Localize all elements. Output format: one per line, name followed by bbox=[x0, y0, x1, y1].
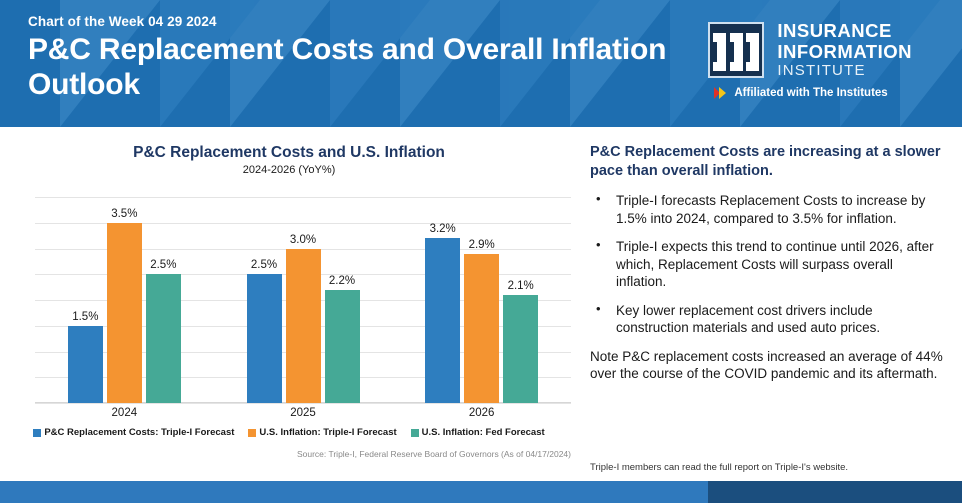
bar[interactable]: 1.5% bbox=[68, 326, 103, 403]
insight-bullet: Triple-I expects this trend to continue … bbox=[590, 238, 946, 291]
chart-title: P&C Replacement Costs and U.S. Inflation bbox=[0, 144, 578, 162]
bar-group: 3.2%2.9%2.1% bbox=[392, 197, 571, 403]
bar-group: 2.5%3.0%2.2% bbox=[214, 197, 393, 403]
bar-chart-plot: 1.5%3.5%2.5%2.5%3.0%2.2%3.2%2.9%2.1% bbox=[35, 197, 571, 403]
bar[interactable]: 3.0% bbox=[286, 249, 321, 404]
bar-value-label: 3.2% bbox=[430, 223, 456, 235]
chart-panel: P&C Replacement Costs and U.S. Inflation… bbox=[0, 127, 578, 480]
brand-wordmark: INSURANCE INFORMATION INSTITUTE bbox=[777, 22, 912, 78]
x-axis-tick-label: 2026 bbox=[392, 407, 571, 419]
bar-slot: 2.5% bbox=[247, 197, 282, 403]
triple-i-pillars-icon bbox=[708, 22, 764, 78]
brand-line-1: INSURANCE bbox=[777, 22, 912, 41]
legend-label: U.S. Inflation: Fed Forecast bbox=[422, 427, 545, 438]
brand-line-2: INFORMATION bbox=[777, 43, 912, 62]
bar-slot: 3.5% bbox=[107, 197, 142, 403]
bar-value-label: 1.5% bbox=[72, 311, 98, 323]
bar-slot: 2.5% bbox=[146, 197, 181, 403]
kicker-text: Chart of the Week 04 29 2024 bbox=[28, 14, 217, 29]
legend-label: U.S. Inflation: Triple-I Forecast bbox=[259, 427, 396, 438]
page-title: P&C Replacement Costs and Overall Inflat… bbox=[28, 33, 708, 103]
institutes-arrow-icon bbox=[714, 87, 727, 99]
insights-note: Note P&C replacement costs increased an … bbox=[590, 348, 946, 383]
chart-legend: P&C Replacement Costs: Triple-I Forecast… bbox=[0, 427, 578, 438]
header-banner: Chart of the Week 04 29 2024 P&C Replace… bbox=[0, 0, 962, 127]
bar-value-label: 2.1% bbox=[508, 280, 534, 292]
bar-value-label: 2.2% bbox=[329, 275, 355, 287]
brand-line-3: INSTITUTE bbox=[777, 63, 912, 78]
bar-value-label: 2.9% bbox=[469, 239, 495, 251]
bar-group: 1.5%3.5%2.5% bbox=[35, 197, 214, 403]
legend-swatch bbox=[33, 429, 41, 437]
x-axis-tick-label: 2024 bbox=[35, 407, 214, 419]
bar-slot: 3.0% bbox=[286, 197, 321, 403]
bar-slot: 2.9% bbox=[464, 197, 499, 403]
brand-logo-block: INSURANCE INFORMATION INSTITUTE Affiliat… bbox=[708, 22, 912, 99]
bar-value-label: 2.5% bbox=[150, 259, 176, 271]
bar[interactable]: 2.5% bbox=[247, 274, 282, 403]
affiliate-line: Affiliated with The Institutes bbox=[714, 87, 887, 99]
bar-slot: 1.5% bbox=[68, 197, 103, 403]
bar-slot: 2.1% bbox=[503, 197, 538, 403]
insights-lede: P&C Replacement Costs are increasing at … bbox=[590, 143, 946, 180]
insights-bullet-list: Triple-I forecasts Replacement Costs to … bbox=[590, 192, 946, 337]
legend-item[interactable]: U.S. Inflation: Triple-I Forecast bbox=[248, 427, 396, 438]
bar[interactable]: 2.9% bbox=[464, 254, 499, 403]
legend-label: P&C Replacement Costs: Triple-I Forecast bbox=[44, 427, 234, 438]
bar-value-label: 3.0% bbox=[290, 234, 316, 246]
chart-source-note: Source: Triple-I, Federal Reserve Board … bbox=[0, 449, 571, 459]
bar[interactable]: 3.2% bbox=[425, 238, 460, 403]
affiliate-label: Affiliated with The Institutes bbox=[734, 87, 887, 99]
bar-groups: 1.5%3.5%2.5%2.5%3.0%2.2%3.2%2.9%2.1% bbox=[35, 197, 571, 403]
bar[interactable]: 2.5% bbox=[146, 274, 181, 403]
x-axis-tick-label: 2025 bbox=[214, 407, 393, 419]
bottom-bar-right bbox=[708, 481, 962, 503]
x-axis-category-labels: 202420252026 bbox=[35, 407, 571, 419]
bar-slot: 3.2% bbox=[425, 197, 460, 403]
insight-bullet: Key lower replacement cost drivers inclu… bbox=[590, 302, 946, 337]
legend-item[interactable]: U.S. Inflation: Fed Forecast bbox=[411, 427, 545, 438]
bottom-accent-bar bbox=[0, 481, 962, 503]
legend-swatch bbox=[248, 429, 256, 437]
slide-root: Chart of the Week 04 29 2024 P&C Replace… bbox=[0, 0, 962, 503]
legend-swatch bbox=[411, 429, 419, 437]
bar-value-label: 2.5% bbox=[251, 259, 277, 271]
bar-value-label: 3.5% bbox=[111, 208, 137, 220]
members-footer-note: Triple-I members can read the full repor… bbox=[590, 462, 962, 473]
bottom-bar-left bbox=[0, 481, 708, 503]
bar[interactable]: 3.5% bbox=[107, 223, 142, 403]
legend-item[interactable]: P&C Replacement Costs: Triple-I Forecast bbox=[33, 427, 234, 438]
bar-slot: 2.2% bbox=[325, 197, 360, 403]
gridline bbox=[35, 403, 571, 404]
bar[interactable]: 2.2% bbox=[325, 290, 360, 403]
chart-subtitle: 2024-2026 (YoY%) bbox=[0, 164, 578, 176]
bar[interactable]: 2.1% bbox=[503, 295, 538, 403]
insights-panel: P&C Replacement Costs are increasing at … bbox=[585, 127, 962, 480]
insight-bullet: Triple-I forecasts Replacement Costs to … bbox=[590, 192, 946, 227]
